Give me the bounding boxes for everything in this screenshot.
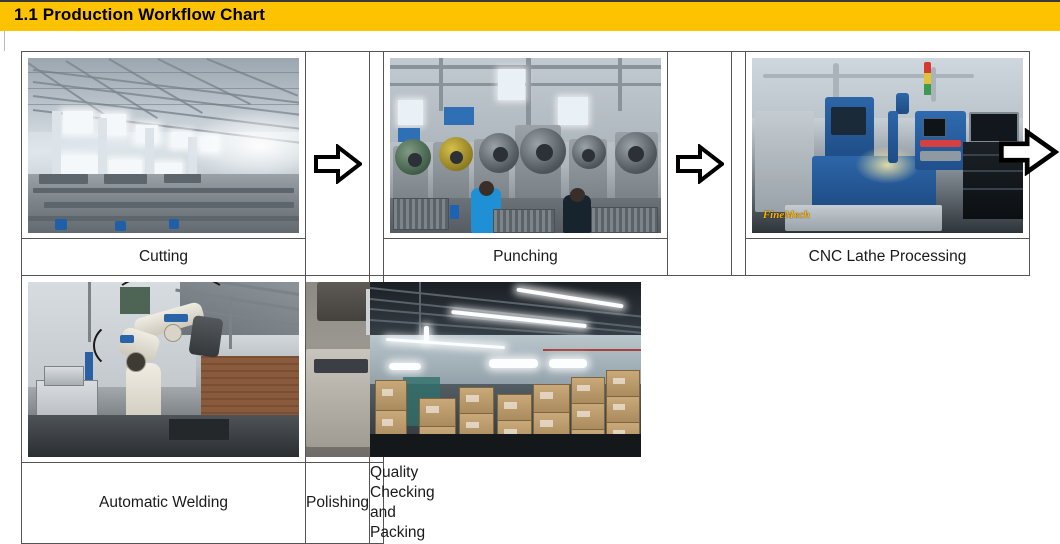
workflow-cell-quality-checking-packing[interactable] (370, 276, 384, 463)
page-title: 1.1 Production Workflow Chart (14, 5, 265, 25)
workflow-label-punching: Punching (384, 239, 668, 276)
workflow-label-automatic-welding: Automatic Welding (22, 463, 306, 544)
section-header-bar: 1.1 Production Workflow Chart (0, 0, 1060, 31)
label-line-2: Packing (370, 524, 425, 541)
label-line-1: Quality Checking and (370, 464, 435, 521)
workflow-arrow-1 (306, 52, 370, 276)
workflow-arrow-2 (668, 52, 732, 276)
punching-press-photo (390, 58, 661, 233)
left-rule (4, 31, 5, 51)
automatic-welding-photo (28, 282, 299, 457)
spacer-cell-1 (370, 52, 384, 276)
workflow-label-cnc-lathe: CNC Lathe Processing (746, 239, 1030, 276)
workflow-cell-cutting[interactable] (22, 52, 306, 239)
workflow-cell-polishing[interactable] (306, 276, 370, 463)
cutting-workshop-photo (28, 58, 299, 233)
workflow-arrow-outgoing (999, 128, 1060, 176)
workflow-cell-cnc-lathe[interactable]: FineMech (746, 52, 1030, 239)
production-workflow-table: FineMech Cutting Punching CNC Lathe Proc… (21, 51, 1030, 544)
workflow-cell-automatic-welding[interactable] (22, 276, 306, 463)
workflow-label-polishing: Polishing (306, 463, 370, 544)
quality-checking-packing-photo (370, 282, 641, 457)
workflow-row-2-labels: Automatic Welding Polishing Quality Chec… (22, 463, 1030, 544)
cnc-machine-brand-logo: FineMech (763, 209, 810, 221)
spacer-cell-2 (732, 52, 746, 276)
workflow-label-quality-checking-packing: Quality Checking and Packing (370, 463, 384, 544)
workflow-row-1-photos: FineMech (22, 52, 1030, 239)
cnc-lathe-photo: FineMech (752, 58, 1023, 233)
right-block-arrow-icon (999, 128, 1060, 176)
workflow-cell-punching[interactable] (384, 52, 668, 239)
workflow-row-2-photos (22, 276, 1030, 463)
workflow-label-cutting: Cutting (22, 239, 306, 276)
right-block-arrow-icon (676, 144, 724, 184)
workflow-row-1-labels: Cutting Punching CNC Lathe Processing (22, 239, 1030, 276)
right-block-arrow-icon (314, 144, 362, 184)
